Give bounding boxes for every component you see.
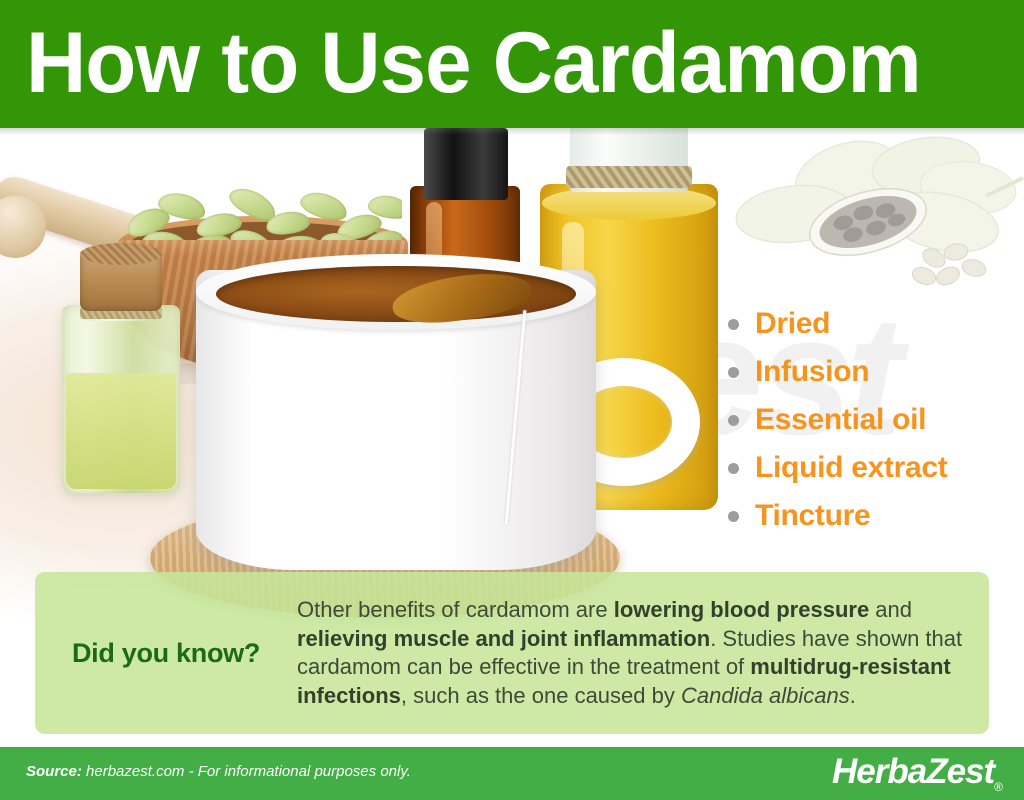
cork-bottle-liquid [66, 373, 176, 489]
usage-list: Dried Infusion Essential oil Liquid extr… [728, 300, 1018, 540]
list-item-label: Essential oil [755, 404, 926, 436]
did-you-know-text: Other benefits of cardamom are lowering … [297, 596, 989, 710]
did-you-know-box: Did you know? Other benefits of cardamom… [35, 572, 989, 734]
amber-bottle-cap [424, 128, 508, 200]
list-item[interactable]: Liquid extract [728, 444, 1018, 492]
white-mug-with-cardamom-tea [196, 270, 616, 570]
source-prefix: Source: [26, 763, 82, 780]
cork-top-glass-bottle-essential-oil [62, 253, 180, 493]
did-you-know-label: Did you know? [35, 638, 297, 669]
registered-trademark-icon: ® [994, 780, 1002, 794]
bullet-dot-icon [728, 511, 739, 522]
bullet-dot-icon [728, 415, 739, 426]
logo-wordmark: HerbaZest [832, 752, 994, 791]
bullet-dot-icon [728, 367, 739, 378]
source-note: Source: herbazest.com - For informationa… [26, 763, 411, 780]
yellow-bottle-twine [566, 166, 692, 188]
list-item-label: Liquid extract [755, 452, 948, 484]
page-title: How to Use Cardamom [26, 8, 921, 118]
cork-stopper-top [80, 243, 162, 265]
list-item[interactable]: Dried [728, 300, 1018, 348]
dried-cardamom-pods-illustration [728, 128, 1024, 321]
list-item[interactable]: Essential oil [728, 396, 1018, 444]
header-bar: How to Use Cardamom [0, 0, 1024, 128]
footer-bar: Source: herbazest.com - For informationa… [0, 747, 1024, 800]
bullet-dot-icon [728, 319, 739, 330]
list-item-label: Infusion [755, 356, 869, 388]
bullet-dot-icon [728, 463, 739, 474]
list-item-label: Dried [755, 308, 830, 340]
header-shadow [0, 128, 1024, 135]
infographic-poster: How to Use Cardamom HerbaZest [0, 0, 1024, 800]
list-item-label: Tincture [755, 500, 870, 532]
herbazest-logo: HerbaZest® [832, 752, 1002, 794]
source-text: herbazest.com - For informational purpos… [82, 763, 411, 780]
list-item[interactable]: Tincture [728, 492, 1018, 540]
list-item[interactable]: Infusion [728, 348, 1018, 396]
